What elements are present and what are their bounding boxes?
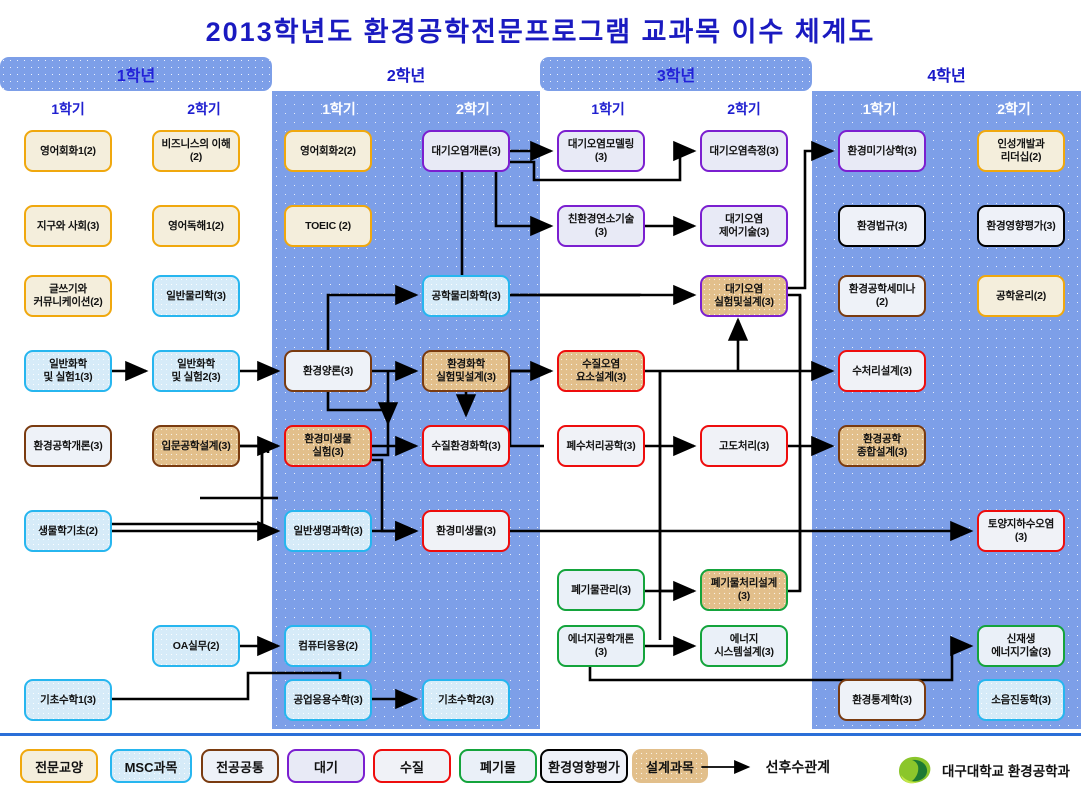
course-box[interactable]: 공학윤리(2) [977,275,1065,317]
course-box[interactable]: 환경영향평가(3) [977,205,1065,247]
course-box[interactable]: 영어독해1(2) [152,205,240,247]
course-label: 환경공학세미나(2) [849,283,915,309]
semester-label-6: 2학기 [676,97,812,121]
course-box[interactable]: 환경화학실험및설계(3) [422,350,510,392]
legend: 전문교양MSC과목전공공통대기수질폐기물환경영향평가설계과목 선후수관계 [0,733,1081,797]
course-label: 컴퓨터응용(2) [298,640,358,653]
legend-item-2: MSC과목 [110,749,192,783]
legend-relation: 선후수관계 [700,758,830,776]
course-label: 생물학기초(2) [38,525,98,538]
course-label: 에너지시스템설계(3) [714,633,774,659]
course-box[interactable]: 환경미기상학(3) [838,130,926,172]
semester-label-7: 1학기 [812,97,947,121]
course-box[interactable]: 지구와 사회(3) [24,205,112,247]
course-label: 친환경연소기술(3) [568,213,634,239]
course-label: 영어회화1(2) [40,145,96,158]
course-box[interactable]: 일반화학및 실험1(3) [24,350,112,392]
course-label: 대기오염모델링(3) [568,138,634,164]
course-box[interactable]: 환경공학개론(3) [24,425,112,467]
course-box[interactable]: 에너지시스템설계(3) [700,625,788,667]
legend-item-5: 수질 [373,749,451,783]
course-box[interactable]: 수처리설계(3) [838,350,926,392]
course-label: 환경영향평가(3) [987,220,1056,233]
course-label: 환경양론(3) [303,365,353,378]
course-label: 폐수처리공학(3) [567,440,636,453]
course-box[interactable]: 대기오염개론(3) [422,130,510,172]
course-box[interactable]: OA실무(2) [152,625,240,667]
semester-label-2: 2학기 [136,97,272,121]
course-box[interactable]: 영어회화1(2) [24,130,112,172]
course-box[interactable]: 기초수학1(3) [24,679,112,721]
course-box[interactable]: 공학물리화학(3) [422,275,510,317]
course-box[interactable]: 토양지하수오염(3) [977,510,1065,552]
course-label: 토양지하수오염(3) [988,518,1054,544]
course-label: 환경화학실험및설계(3) [436,358,496,384]
year-header-4: 4학년 [812,57,1081,91]
curriculum-flowchart: 2013학년도 환경공학전문프로그램 교과목 이수 체계도 1학년2학년3학년4… [0,0,1081,794]
university-mark: 대구대학교 환경공학과 [895,756,1070,784]
course-label: 기초수학2(3) [438,694,494,707]
course-label: 신재생에너지기술(3) [991,633,1051,659]
legend-item-1: 전문교양 [20,749,98,783]
legend-item-4: 대기 [287,749,365,783]
course-label: 지구와 사회(3) [37,220,99,233]
course-box[interactable]: 폐기물관리(3) [557,569,645,611]
course-label: 공학물리화학(3) [432,290,501,303]
legend-item-3: 전공공통 [201,749,279,783]
course-label: 수처리설계(3) [852,365,912,378]
course-label: 수질오염요소설계(3) [576,358,626,384]
course-label: 영어회화2(2) [300,145,356,158]
course-box[interactable]: 일반생명과학(3) [284,510,372,552]
page-title: 2013학년도 환경공학전문프로그램 교과목 이수 체계도 [0,10,1081,49]
course-label: 에너지공학개론(3) [568,633,634,659]
course-label: OA실무(2) [173,640,220,653]
course-box[interactable]: 컴퓨터응용(2) [284,625,372,667]
course-box[interactable]: 신재생에너지기술(3) [977,625,1065,667]
course-box[interactable]: 대기오염측정(3) [700,130,788,172]
course-box[interactable]: 공업응용수학(3) [284,679,372,721]
course-label: 비즈니스의 이해(2) [162,138,231,164]
legend-item-8: 설계과목 [632,749,708,783]
course-box[interactable]: 대기오염모델링(3) [557,130,645,172]
course-label: 폐기물처리설계(3) [711,577,777,603]
university-name: 대구대학교 환경공학과 [942,760,1070,780]
course-box[interactable]: 대기오염제어기술(3) [700,205,788,247]
course-box[interactable]: 환경미생물실험(3) [284,425,372,467]
course-box[interactable]: 환경공학세미나(2) [838,275,926,317]
course-box[interactable]: 일반화학및 실험2(3) [152,350,240,392]
course-label: 소음진동학(3) [991,694,1051,707]
course-box[interactable]: 환경법규(3) [838,205,926,247]
course-label: 고도처리(3) [719,440,769,453]
course-label: 글쓰기와커뮤니케이션(2) [34,283,103,309]
course-label: 일반생명과학(3) [294,525,363,538]
course-label: 입문공학설계(3) [162,440,231,453]
course-label: 공업응용수학(3) [294,694,363,707]
course-label: 환경미생물(3) [436,525,496,538]
course-box[interactable]: 친환경연소기술(3) [557,205,645,247]
course-box[interactable]: 대기오염실험및설계(3) [700,275,788,317]
course-box[interactable]: 에너지공학개론(3) [557,625,645,667]
course-box[interactable]: TOEIC (2) [284,205,372,247]
course-box[interactable]: 영어회화2(2) [284,130,372,172]
arrow-icon [700,759,760,775]
semester-label-1: 1학기 [0,97,136,121]
course-label: 환경법규(3) [857,220,907,233]
year-label: 2학년 [272,57,540,91]
semester-label-8: 2학기 [947,97,1081,121]
course-box[interactable]: 수질환경화학(3) [422,425,510,467]
course-label: 대기오염개론(3) [432,145,501,158]
course-box[interactable]: 폐수처리공학(3) [557,425,645,467]
course-box[interactable]: 고도처리(3) [700,425,788,467]
course-box[interactable]: 글쓰기와커뮤니케이션(2) [24,275,112,317]
course-label: 일반화학및 실험2(3) [172,358,221,384]
course-label: TOEIC (2) [305,220,351,233]
course-box[interactable]: 환경공학종합설계(3) [838,425,926,467]
legend-item-6: 폐기물 [459,749,537,783]
course-label: 인성개발과리더십(2) [997,138,1044,164]
course-label: 일반물리학(3) [166,290,226,303]
course-label: 수질환경화학(3) [432,440,501,453]
course-label: 대기오염측정(3) [710,145,779,158]
course-label: 일반화학및 실험1(3) [44,358,93,384]
year-header-3: 3학년 [540,57,812,91]
course-label: 영어독해1(2) [168,220,224,233]
course-box[interactable]: 환경양론(3) [284,350,372,392]
year-label: 1학년 [0,57,272,91]
course-label: 환경통계학(3) [852,694,912,707]
course-label: 기초수학1(3) [40,694,96,707]
year-header-2: 2학년 [272,57,540,91]
course-box[interactable]: 생물학기초(2) [24,510,112,552]
course-label: 공학윤리(2) [996,290,1046,303]
course-box[interactable]: 입문공학설계(3) [152,425,240,467]
year-header-1: 1학년 [0,57,272,91]
course-label: 환경공학개론(3) [34,440,103,453]
semester-label-4: 2학기 [406,97,540,121]
course-label: 환경미생물실험(3) [304,433,351,459]
course-box[interactable]: 인성개발과리더십(2) [977,130,1065,172]
course-box[interactable]: 폐기물처리설계(3) [700,569,788,611]
course-label: 대기오염제어기술(3) [719,213,769,239]
daegu-university-logo-icon [895,755,935,785]
course-label: 환경미기상학(3) [848,145,917,158]
year-label: 4학년 [812,57,1081,91]
year-label: 3학년 [540,57,812,91]
course-box[interactable]: 환경통계학(3) [838,679,926,721]
semester-label-3: 1학기 [272,97,406,121]
course-box[interactable]: 비즈니스의 이해(2) [152,130,240,172]
course-box[interactable]: 소음진동학(3) [977,679,1065,721]
course-box[interactable]: 기초수학2(3) [422,679,510,721]
legend-relation-label: 선후수관계 [766,757,830,777]
course-label: 대기오염실험및설계(3) [714,283,774,309]
course-label: 폐기물관리(3) [571,584,631,597]
course-box[interactable]: 수질오염요소설계(3) [557,350,645,392]
course-label: 환경공학종합설계(3) [857,433,907,459]
course-box[interactable]: 환경미생물(3) [422,510,510,552]
legend-item-7: 환경영향평가 [540,749,628,783]
course-box[interactable]: 일반물리학(3) [152,275,240,317]
semester-label-5: 1학기 [540,97,676,121]
